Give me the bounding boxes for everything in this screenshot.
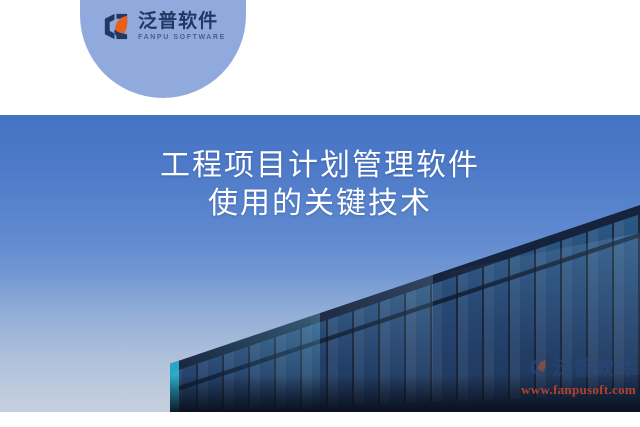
logo-chinese-name: 泛普软件 xyxy=(138,12,226,31)
hero-banner: 工程项目计划管理软件 使用的关键技术 泛普软件 www.fanpusoft.co… xyxy=(0,115,640,412)
logo-text-block: 泛普软件 FANPU SOFTWARE xyxy=(138,12,226,41)
page-title: 工程项目计划管理软件 使用的关键技术 xyxy=(0,147,640,223)
glass-reflection-right xyxy=(443,233,640,376)
building-base-shadow xyxy=(170,375,640,412)
footer-strip xyxy=(0,412,640,427)
page-title-line-1: 工程项目计划管理软件 xyxy=(0,147,640,185)
page-root: 泛普软件 FANPU SOFTWARE 工程项目计划管理软件 使用的关键技术 xyxy=(0,0,640,427)
logo-badge[interactable]: 泛普软件 FANPU SOFTWARE xyxy=(80,0,246,98)
logo-lockup: 泛普软件 FANPU SOFTWARE xyxy=(80,0,246,52)
fanpu-logo-mark-icon xyxy=(100,11,131,42)
header-strip: 泛普软件 FANPU SOFTWARE xyxy=(0,0,640,115)
logo-english-name: FANPU SOFTWARE xyxy=(138,34,226,41)
page-title-line-2: 使用的关键技术 xyxy=(0,185,640,223)
